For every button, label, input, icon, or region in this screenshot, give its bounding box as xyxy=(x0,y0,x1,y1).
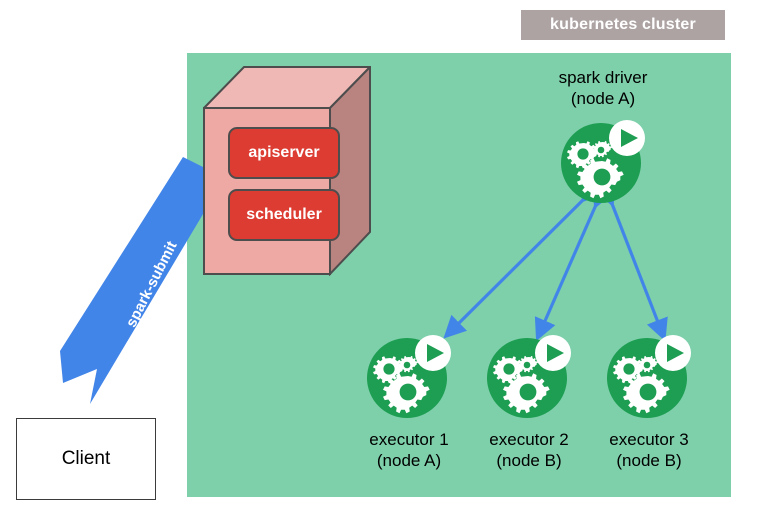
play-icon xyxy=(609,120,645,156)
diagram-canvas: kubernetes cluster spark-submit apiserve… xyxy=(0,0,761,516)
node-executor-3[interactable]: executor 3 (node B) xyxy=(603,328,695,425)
node-executor-1[interactable]: executor 1 (node A) xyxy=(363,328,455,425)
control-plane-chips: apiserver scheduler xyxy=(228,127,340,241)
chip-apiserver[interactable]: apiserver xyxy=(228,127,340,179)
node-executor-1-label: executor 1 (node A) xyxy=(369,429,448,471)
node-executor-2-label: executor 2 (node B) xyxy=(489,429,568,471)
play-icon xyxy=(415,335,451,371)
spark-driver-icon xyxy=(557,113,649,205)
client-box[interactable]: Client xyxy=(16,418,156,500)
node-spark-driver[interactable]: spark driver (node A) xyxy=(557,113,649,210)
executor-3-icon xyxy=(603,328,695,420)
node-executor-2-name: executor 2 xyxy=(489,429,568,450)
executor-1-icon xyxy=(363,328,455,420)
node-executor-1-node: (node A) xyxy=(369,450,448,471)
node-spark-driver-label: spark driver (node A) xyxy=(559,67,648,109)
node-executor-2-node: (node B) xyxy=(489,450,568,471)
spark-submit-arrow xyxy=(55,155,215,415)
kubernetes-cluster-badge: kubernetes cluster xyxy=(521,10,725,40)
play-icon xyxy=(655,335,691,371)
node-executor-3-node: (node B) xyxy=(609,450,688,471)
node-executor-3-label: executor 3 (node B) xyxy=(609,429,688,471)
play-icon xyxy=(535,335,571,371)
node-spark-driver-node: (node A) xyxy=(559,88,648,109)
node-spark-driver-name: spark driver xyxy=(559,67,648,88)
node-executor-2[interactable]: executor 2 (node B) xyxy=(483,328,575,425)
node-executor-1-name: executor 1 xyxy=(369,429,448,450)
node-executor-3-name: executor 3 xyxy=(609,429,688,450)
chip-scheduler[interactable]: scheduler xyxy=(228,189,340,241)
executor-2-icon xyxy=(483,328,575,420)
